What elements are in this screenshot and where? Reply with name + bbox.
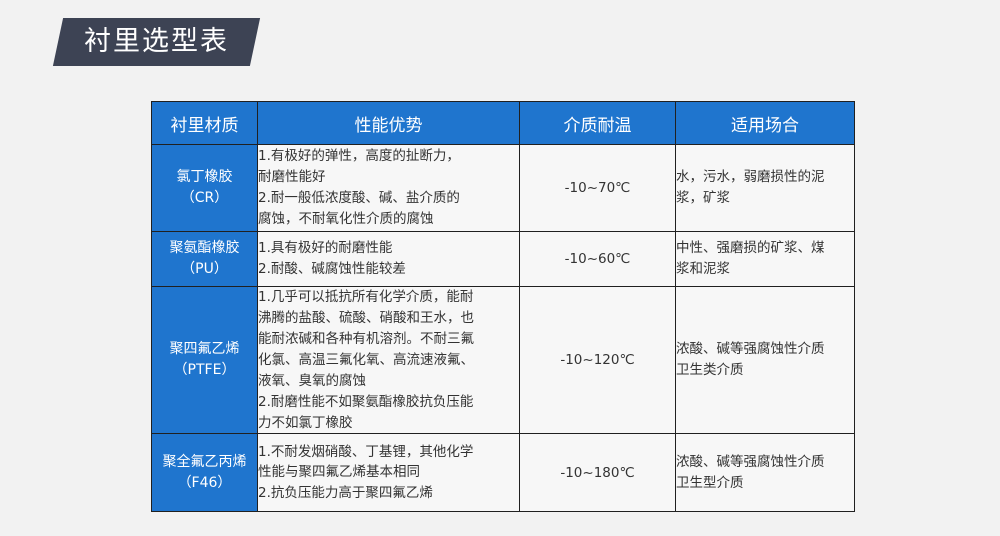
lining-selection-table-wrap: 衬里材质 性能优势 介质耐温 适用场合 氯丁橡胶 （CR） 1.有极好的弹性，高…: [151, 101, 854, 512]
performance-line: 能耐浓碱和各种有机溶剂。不耐三氟: [258, 329, 519, 350]
performance-line: 2.抗负压能力高于聚四氟乙烯: [258, 483, 519, 504]
performance-line: 化氯、高温三氟化氧、高流速液氟、: [258, 350, 519, 371]
scene-line: 浆和泥浆: [676, 259, 854, 280]
performance-line: 力不如氯丁橡胶: [258, 413, 519, 434]
cell-scene: 浓酸、碱等强腐蚀性介质 卫生型介质: [676, 434, 855, 512]
scene-line: 浆，矿浆: [676, 188, 854, 209]
performance-line: 2.耐磨性能不如聚氨酯橡胶抗负压能: [258, 392, 519, 413]
lining-selection-table: 衬里材质 性能优势 介质耐温 适用场合 氯丁橡胶 （CR） 1.有极好的弹性，高…: [151, 101, 855, 512]
column-header-performance: 性能优势: [258, 102, 520, 145]
scene-line: 中性、强磨损的矿浆、煤: [676, 238, 854, 259]
table-row: 聚氨酯橡胶 （PU） 1.具有极好的耐磨性能 2.耐酸、碱腐蚀性能较差 -10~…: [152, 232, 855, 287]
cell-scene: 浓酸、碱等强腐蚀性介质 卫生类介质: [676, 287, 855, 434]
material-name: 氯丁橡胶: [152, 167, 257, 188]
material-name: 聚氨酯橡胶: [152, 238, 257, 259]
scene-line: 浓酸、碱等强腐蚀性介质: [676, 452, 854, 473]
column-header-material: 衬里材质: [152, 102, 258, 145]
scene-line: 卫生型介质: [676, 473, 854, 494]
cell-temperature: -10~70℃: [520, 145, 676, 232]
page-title-banner: 衬里选型表: [58, 18, 255, 66]
performance-line: 腐蚀，不耐氧化性介质的腐蚀: [258, 209, 519, 230]
material-code: （PU）: [152, 259, 257, 280]
cell-material: 聚氨酯橡胶 （PU）: [152, 232, 258, 287]
page-title: 衬里选型表: [84, 18, 229, 66]
cell-performance: 1.几乎可以抵抗所有化学介质，能耐 沸腾的盐酸、硫酸、硝酸和王水，也 能耐浓碱和…: [258, 287, 520, 434]
cell-material: 聚全氟乙丙烯 （F46）: [152, 434, 258, 512]
banner-shape: 衬里选型表: [53, 18, 260, 66]
cell-temperature: -10~120℃: [520, 287, 676, 434]
cell-performance: 1.具有极好的耐磨性能 2.耐酸、碱腐蚀性能较差: [258, 232, 520, 287]
material-code: （F46）: [152, 473, 257, 494]
scene-line: 浓酸、碱等强腐蚀性介质: [676, 339, 854, 360]
performance-line: 1.有极好的弹性，高度的扯断力，: [258, 146, 519, 167]
performance-line: 2.耐一般低浓度酸、碱、盐介质的: [258, 188, 519, 209]
column-header-scene: 适用场合: [676, 102, 855, 145]
column-header-temperature: 介质耐温: [520, 102, 676, 145]
scene-line: 水，污水，弱磨损性的泥: [676, 167, 854, 188]
cell-temperature: -10~180℃: [520, 434, 676, 512]
cell-temperature: -10~60℃: [520, 232, 676, 287]
performance-line: 性能与聚四氟乙烯基本相同: [258, 462, 519, 483]
performance-line: 1.具有极好的耐磨性能: [258, 238, 519, 259]
table-row: 聚四氟乙烯 （PTFE） 1.几乎可以抵抗所有化学介质，能耐 沸腾的盐酸、硫酸、…: [152, 287, 855, 434]
cell-performance: 1.有极好的弹性，高度的扯断力， 耐磨性能好 2.耐一般低浓度酸、碱、盐介质的 …: [258, 145, 520, 232]
performance-line: 沸腾的盐酸、硫酸、硝酸和王水，也: [258, 308, 519, 329]
performance-line: 1.不耐发烟硝酸、丁基锂，其他化学: [258, 442, 519, 463]
cell-material: 氯丁橡胶 （CR）: [152, 145, 258, 232]
material-name: 聚四氟乙烯: [152, 339, 257, 360]
material-code: （PTFE）: [152, 360, 257, 381]
performance-line: 2.耐酸、碱腐蚀性能较差: [258, 259, 519, 280]
scene-line: 卫生类介质: [676, 360, 854, 381]
table-row: 氯丁橡胶 （CR） 1.有极好的弹性，高度的扯断力， 耐磨性能好 2.耐一般低浓…: [152, 145, 855, 232]
cell-scene: 中性、强磨损的矿浆、煤 浆和泥浆: [676, 232, 855, 287]
material-name: 聚全氟乙丙烯: [152, 452, 257, 473]
performance-line: 液氧、臭氧的腐蚀: [258, 371, 519, 392]
table-row: 聚全氟乙丙烯 （F46） 1.不耐发烟硝酸、丁基锂，其他化学 性能与聚四氟乙烯基…: [152, 434, 855, 512]
cell-scene: 水，污水，弱磨损性的泥 浆，矿浆: [676, 145, 855, 232]
performance-line: 1.几乎可以抵抗所有化学介质，能耐: [258, 287, 519, 308]
cell-material: 聚四氟乙烯 （PTFE）: [152, 287, 258, 434]
cell-performance: 1.不耐发烟硝酸、丁基锂，其他化学 性能与聚四氟乙烯基本相同 2.抗负压能力高于…: [258, 434, 520, 512]
material-code: （CR）: [152, 188, 257, 209]
table-header-row: 衬里材质 性能优势 介质耐温 适用场合: [152, 102, 855, 145]
performance-line: 耐磨性能好: [258, 167, 519, 188]
